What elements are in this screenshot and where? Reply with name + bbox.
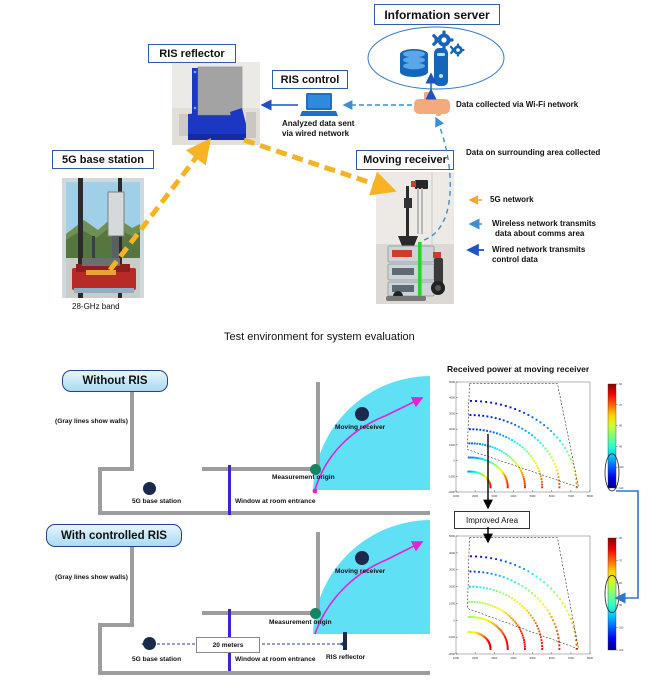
legend-wireless-network-label-line2: data about comms area: [495, 229, 584, 238]
receiver-label-without-ris: Moving receiver: [335, 424, 385, 431]
ris-reflector-marker: [343, 632, 347, 650]
bottom-section-title: Test environment for system evaluation: [224, 331, 415, 343]
measurement-origin-dot: [310, 608, 321, 619]
legend-wireless-network-label-line1: Wireless network transmits: [492, 219, 596, 228]
distance-label-text: 20 meters: [213, 642, 244, 649]
wall-vertical-room-right: [316, 532, 320, 615]
ris-reflector-label: RIS reflector: [326, 654, 365, 661]
panel-with-controlled-ris: With controlled RIS 20 meters (Gray line…: [30, 512, 430, 679]
moving-receiver-dot: [355, 407, 369, 421]
panel-title-without-ris: Without RIS: [62, 370, 168, 392]
walls-note-with-ris: (Gray lines show walls): [55, 574, 128, 581]
wall-vertical-far-left: [98, 467, 102, 515]
base-station-label-with-ris: 5G base station: [132, 656, 181, 663]
wall-vertical-room-right: [316, 382, 320, 471]
plots-title: Received power at moving receiver: [447, 364, 589, 374]
distance-label-box: 20 meters: [196, 637, 260, 653]
wall-vertical-left: [130, 382, 134, 470]
panel-title-with-ris: With controlled RIS: [46, 524, 182, 547]
panel-without-ris: Without RIS (Gray lines show walls) 5G b…: [30, 360, 430, 515]
origin-label-without-ris: Measurement origin: [272, 474, 335, 481]
receiver-label-with-ris: Moving receiver: [335, 568, 385, 575]
window-label-without-ris: Window at room entrance: [235, 498, 316, 505]
legend-wired-network-label-line2: control data: [492, 255, 538, 264]
wall-vertical-far-left: [98, 623, 102, 675]
window-label-with-ris: Window at room entrance: [235, 656, 316, 663]
moving-receiver-dot: [355, 551, 369, 565]
wall-horizontal-bottom: [98, 671, 430, 675]
walls-note-without-ris: (Gray lines show walls): [55, 418, 128, 425]
window-marker: [228, 465, 231, 515]
wall-vertical-left: [130, 536, 134, 626]
base-station-dot: [143, 482, 156, 495]
base-station-dot: [143, 637, 156, 650]
base-station-label-without-ris: 5G base station: [132, 498, 181, 505]
panel-title-with-ris-label: With controlled RIS: [61, 530, 167, 542]
wall-horizontal-room: [202, 611, 320, 615]
plot-connectors: [430, 376, 650, 676]
wall-horizontal-room: [202, 467, 320, 471]
top-system-diagram: 5G base station 28-GHz band RIS reflecto…: [0, 0, 650, 320]
origin-label-with-ris: Measurement origin: [269, 619, 332, 626]
top-diagram-connectors: [0, 0, 650, 320]
panel-title-without-ris-label: Without RIS: [82, 375, 147, 387]
legend-5g-network-label: 5G network: [490, 195, 534, 204]
legend-wired-network-label-line1: Wired network transmits: [492, 245, 585, 254]
wall-horizontal-mid-left: [98, 467, 134, 471]
wall-horizontal-mid-left: [98, 623, 134, 627]
